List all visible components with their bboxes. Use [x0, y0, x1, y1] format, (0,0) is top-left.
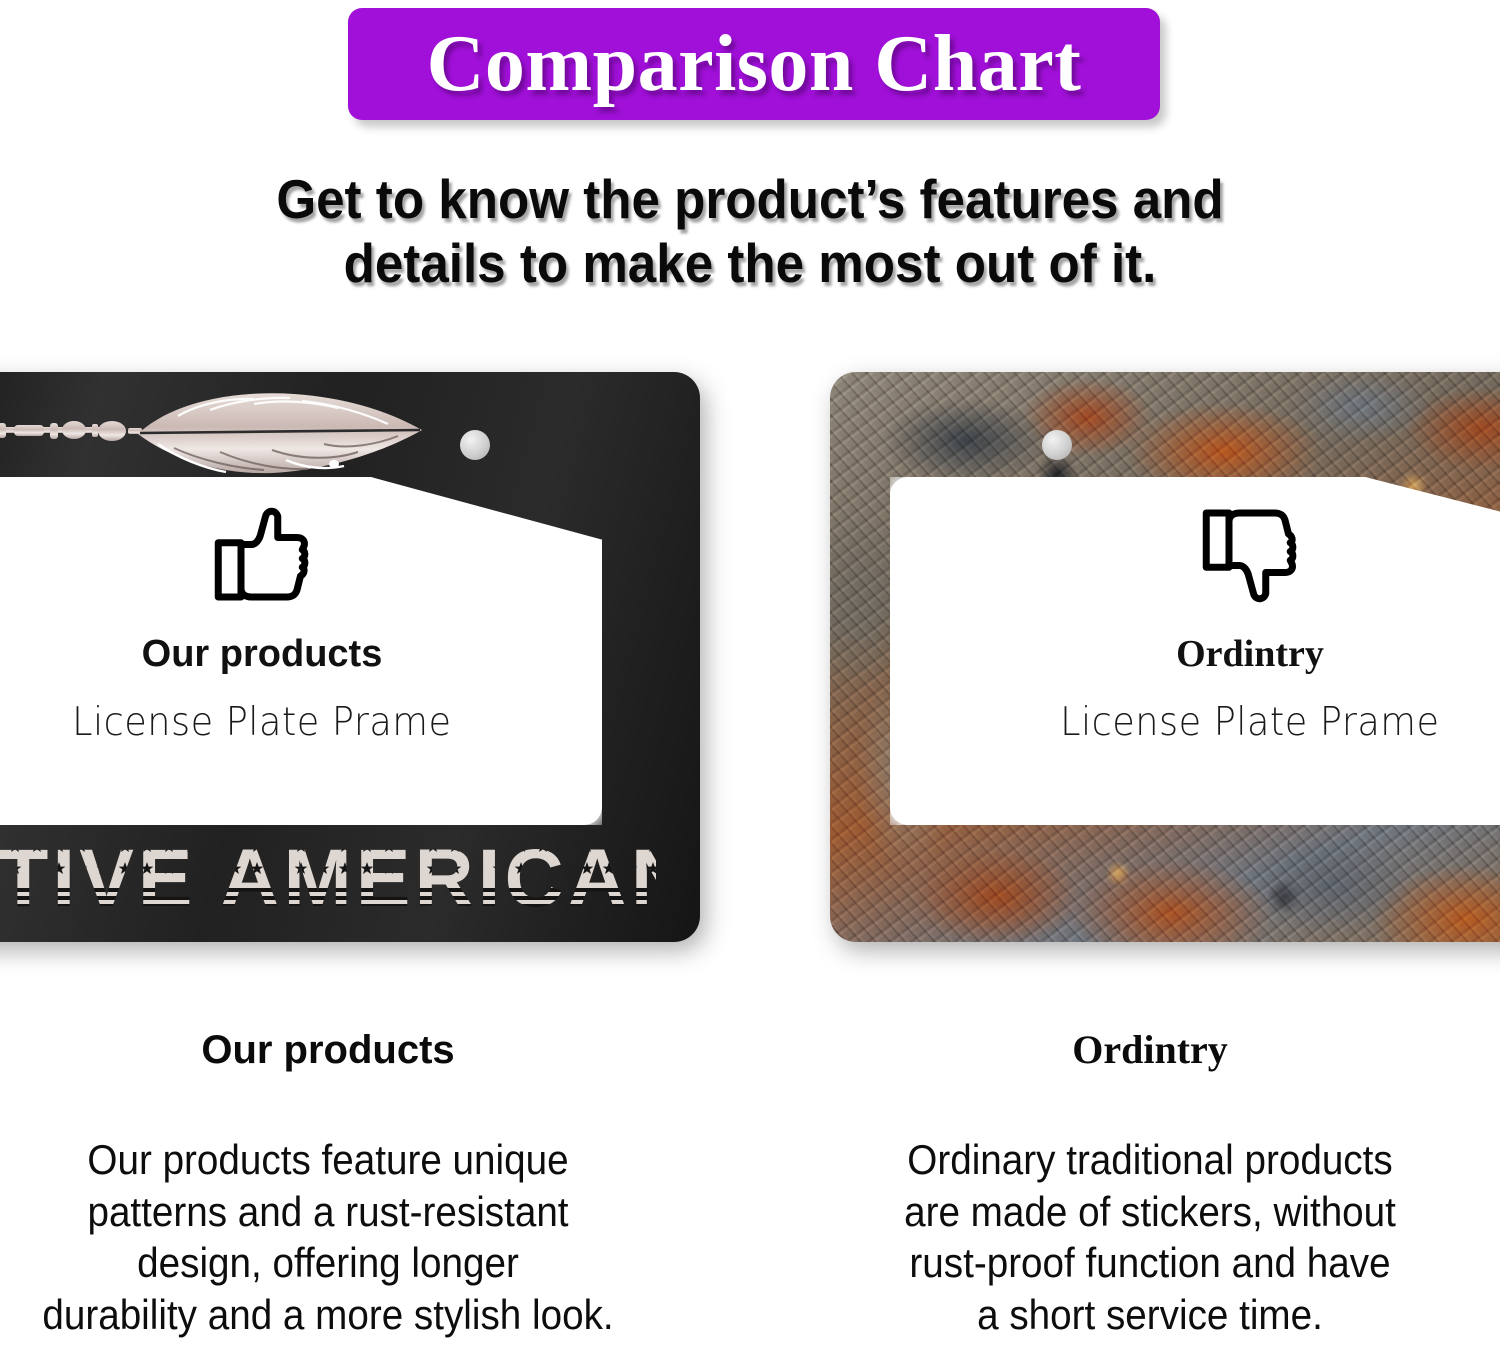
- window-product-label-ours: License Plate Prame: [72, 703, 451, 742]
- window-product-label-ordinary: License Plate Prame: [1060, 703, 1439, 742]
- svg-text:NATIVE AMERICAN: NATIVE AMERICAN: [0, 836, 656, 918]
- comparison-body-line: a short service time.: [828, 1289, 1472, 1341]
- comparison-heading-ordinary: Ordintry: [800, 1030, 1500, 1070]
- comparison-heading-ours: Our products: [0, 1030, 678, 1070]
- comparison-body-line: design, offering longer: [6, 1237, 650, 1289]
- thumbs-up-icon: [206, 499, 318, 611]
- comparison-body-line: rust-proof function and have: [828, 1237, 1472, 1289]
- window-brand-label-ordinary: Ordintry: [1176, 635, 1324, 673]
- license-plate-window-ours: Our products License Plate Prame: [0, 477, 602, 825]
- license-plate-frame-rusted: Ordintry License Plate Prame: [830, 372, 1500, 942]
- window-brand-label-ours: Our products: [142, 635, 383, 673]
- comparison-chart-banner: Comparison Chart: [348, 8, 1160, 120]
- plate-lettering-native-american: NATIVE AMERICAN NATIVE AMERICAN: [0, 836, 656, 918]
- comparison-column-ordinary: Ordintry Ordinary traditional products a…: [800, 1030, 1500, 1341]
- product-panel-ordinary: Ordintry License Plate Prame: [830, 372, 1500, 942]
- subtitle-line-1: Get to know the product’s features and: [53, 168, 1448, 232]
- license-plate-frame-black: NATIVE AMERICAN NATIVE AMERICAN Our prod…: [0, 372, 700, 942]
- product-panel-ours: NATIVE AMERICAN NATIVE AMERICAN Our prod…: [0, 372, 700, 942]
- arrow-feather-artwork: [0, 386, 462, 478]
- license-plate-window-ordinary: Ordintry License Plate Prame: [890, 477, 1500, 825]
- comparison-body-ordinary: Ordinary traditional products are made o…: [828, 1134, 1472, 1341]
- comparison-body-line: Ordinary traditional products: [828, 1134, 1472, 1186]
- comparison-body-ours: Our products feature unique patterns and…: [6, 1134, 650, 1341]
- page-title: Comparison Chart: [427, 24, 1082, 104]
- comparison-body-line: durability and a more stylish look.: [6, 1289, 650, 1341]
- comparison-body-line: patterns and a rust-resistant: [6, 1186, 650, 1238]
- page-subtitle: Get to know the product’s features and d…: [53, 168, 1448, 296]
- comparison-body-line: are made of stickers, without: [828, 1186, 1472, 1238]
- thumbs-down-icon: [1194, 499, 1306, 611]
- svg-text:NATIVE AMERICAN: NATIVE AMERICAN: [0, 836, 656, 918]
- mounting-hole: [460, 430, 490, 460]
- comparison-column-ours: Our products Our products feature unique…: [0, 1030, 678, 1341]
- mounting-hole: [1042, 430, 1072, 460]
- comparison-body-line: Our products feature unique: [6, 1134, 650, 1186]
- subtitle-line-2: details to make the most out of it.: [53, 232, 1448, 296]
